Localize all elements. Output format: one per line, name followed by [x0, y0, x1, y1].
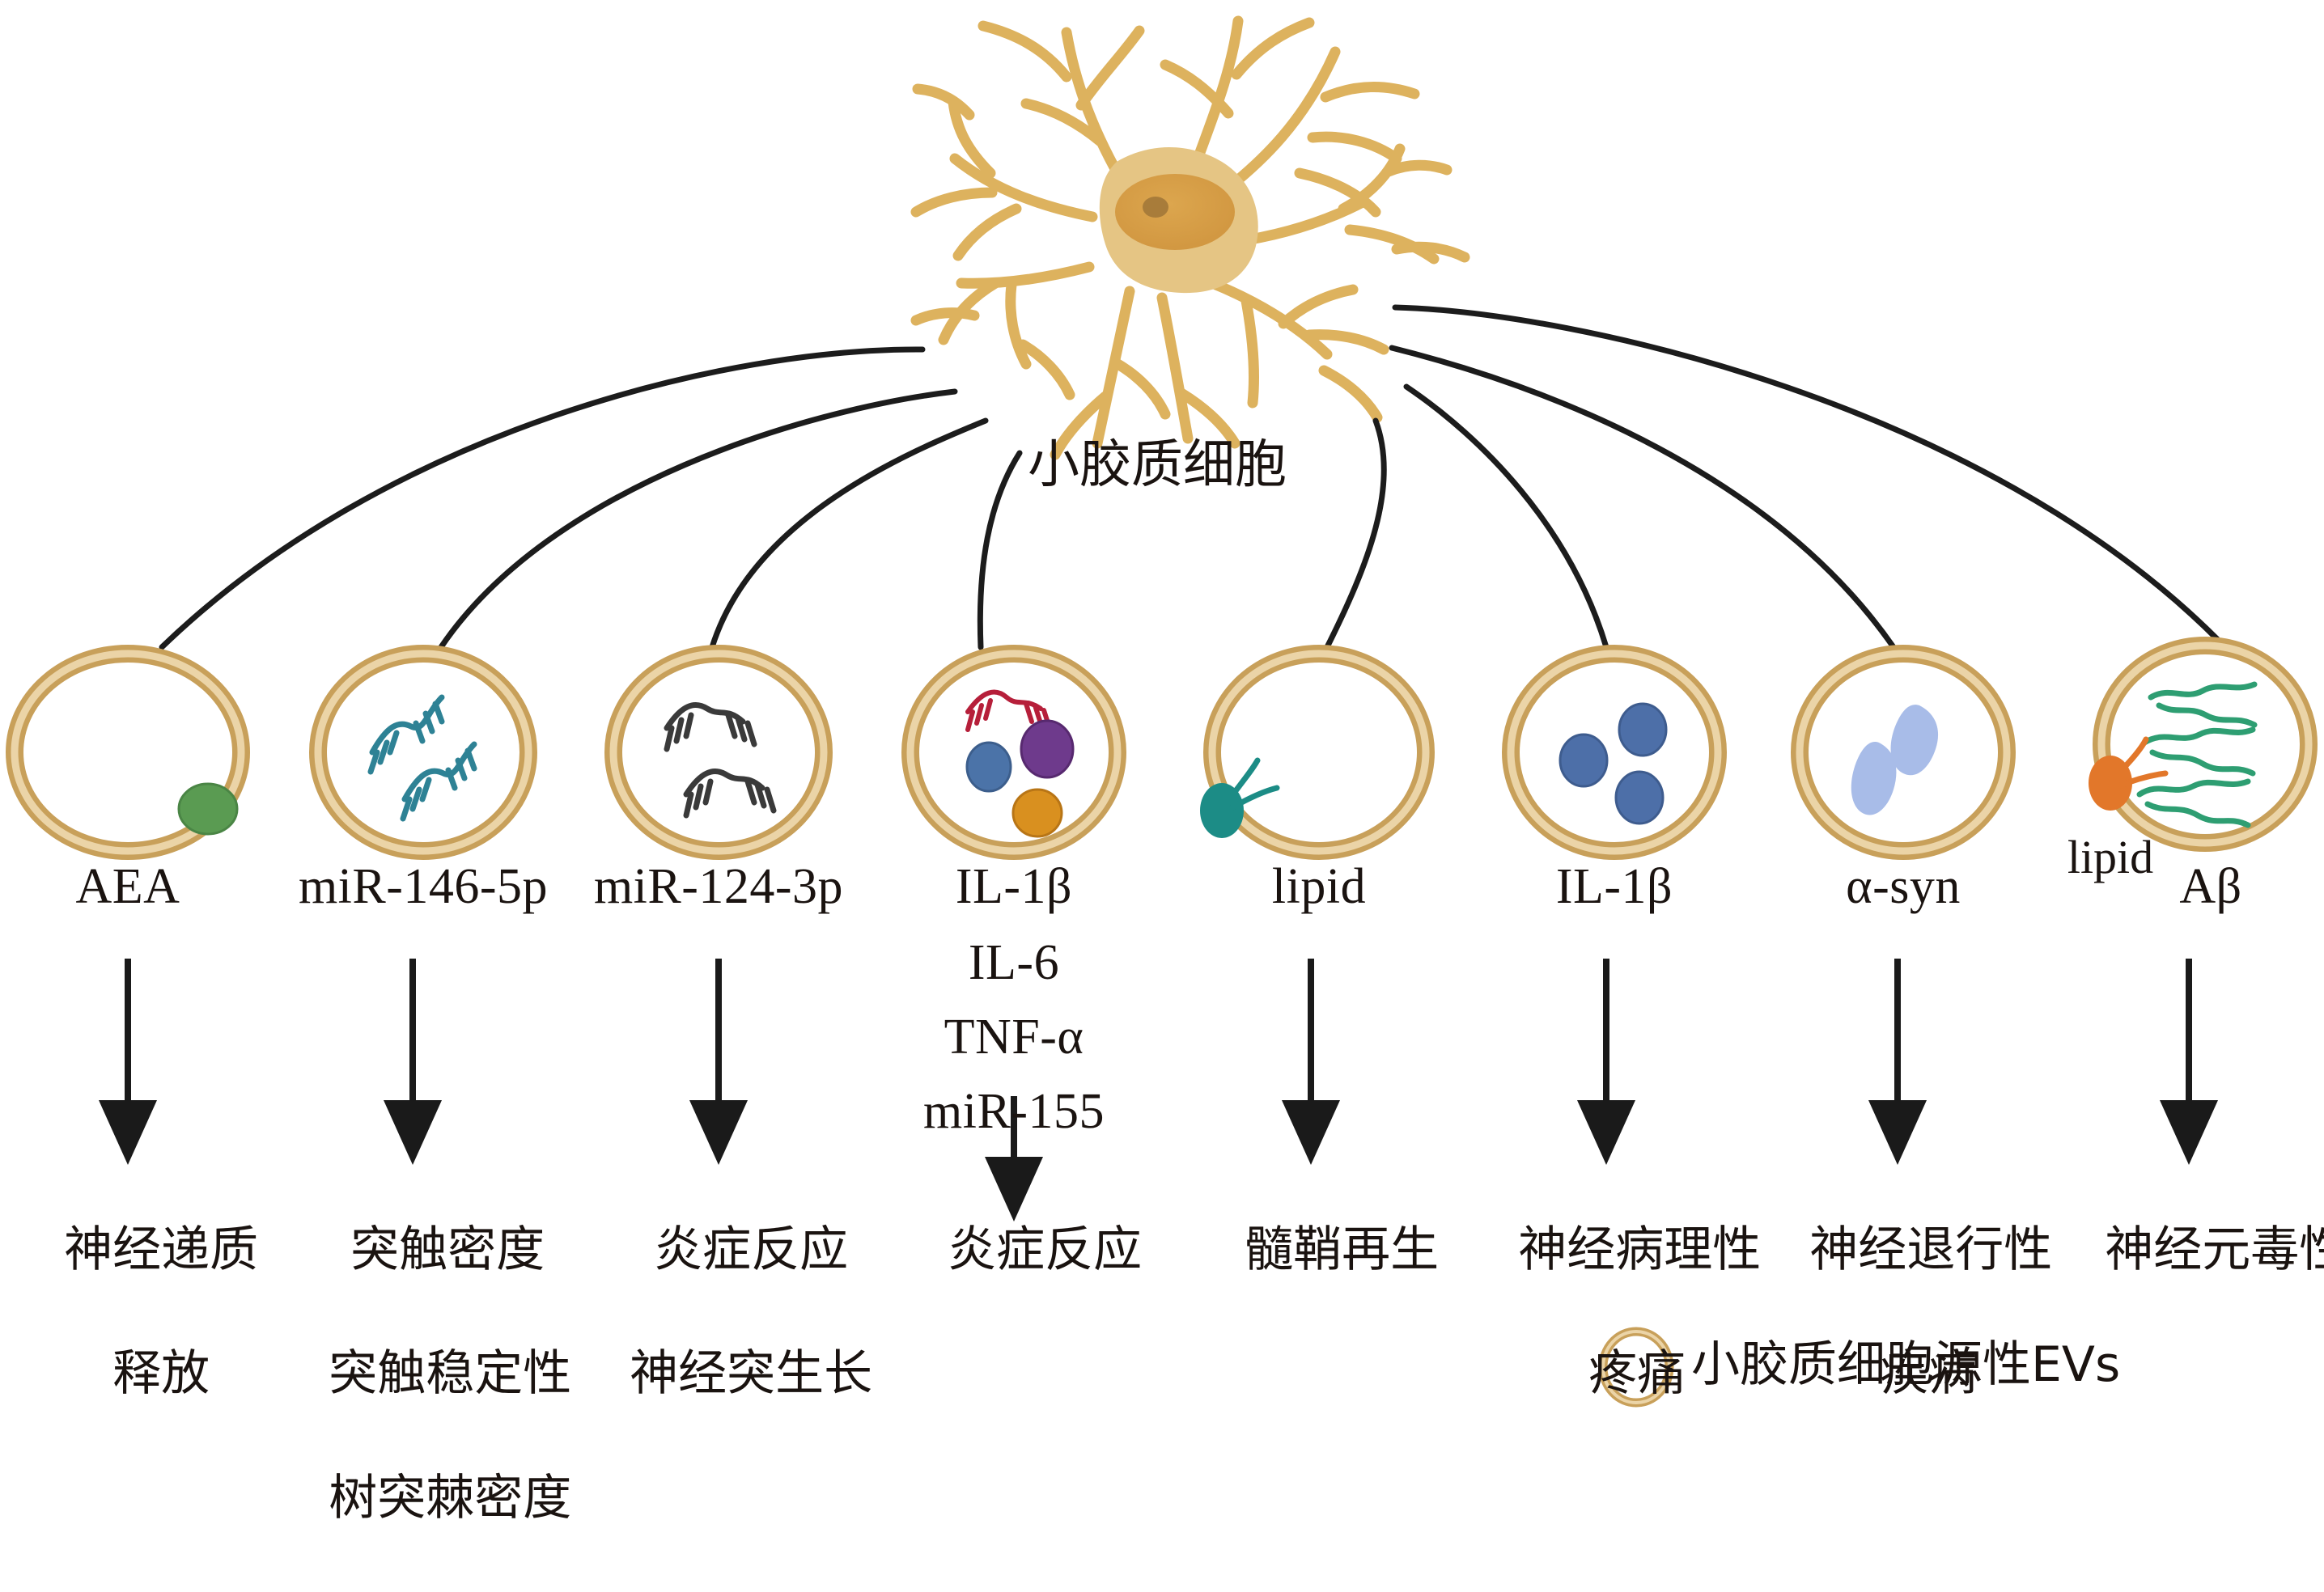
il1b-dot-1 [1560, 735, 1607, 786]
cytokine-purple-icon [1021, 721, 1073, 777]
outcome-aea: 神经递质 释放 [0, 1157, 272, 1467]
outcome-lipid-line1: 髓鞘再生 [1245, 1222, 1439, 1278]
outcome-abeta-line1: 神经元毒性 [2105, 1222, 2324, 1278]
outcome-arrows [128, 959, 2189, 1163]
cargo-label-mir146: miR-146-5p [253, 859, 593, 915]
vesicle-il1b [1511, 654, 1718, 851]
vesicle-cytokines [910, 654, 1117, 851]
outcome-cytokines-line1: 炎症反应 [948, 1222, 1142, 1278]
outcome-il1b-line2: 疼痛 [1588, 1345, 1686, 1402]
il1b-dot-2 [1619, 704, 1666, 756]
outcome-mir146: 突触密度 突触稳定性 树突棘密度 [267, 1157, 566, 1592]
outcome-mir124-line2: 神经突生长 [630, 1345, 872, 1402]
microglia-nucleus [1115, 174, 1235, 250]
asyn-fibril-icon [1851, 705, 1938, 815]
outcome-il1b: 神经病理性 疼痛 [1457, 1157, 1756, 1467]
legend-label: 小胶质细胞源性EVs [1691, 1338, 2306, 1392]
cargo-label-il1b: IL-1β [1501, 859, 1728, 915]
cargo-extra-tnfa: TNF-α [901, 1010, 1127, 1065]
microglia-cell [916, 21, 1465, 455]
outcome-il1b-line1: 神经病理性 [1518, 1222, 1761, 1278]
outcome-aea-line2: 释放 [112, 1345, 210, 1402]
outcome-aea-line1: 神经递质 [64, 1222, 258, 1278]
vesicle-lipid [1200, 654, 1426, 851]
vesicle-abeta [2089, 646, 2309, 843]
outcome-asyn: 神经退行性 疾病 [1748, 1157, 2047, 1467]
outcome-mir146-line2: 突触稳定性 [329, 1345, 571, 1402]
vesicle-asyn [1800, 654, 2007, 851]
connector-aea [162, 349, 922, 647]
cytokine-orange-icon [1013, 790, 1062, 836]
cargo-extra-mir155: miR-155 [884, 1084, 1143, 1140]
microglia-nucleolus [1143, 197, 1168, 218]
abeta-fibril-icon [2140, 684, 2254, 825]
mirna-strand-teal [371, 697, 474, 819]
cargo-label-abeta-text: Aβ [2097, 859, 2324, 915]
outcome-mir124-line1: 炎症反应 [654, 1222, 848, 1278]
vesicle-mir146 [318, 654, 528, 851]
outcome-asyn-line1: 神经退行性 [1809, 1222, 2052, 1278]
il1b-dot-3 [1616, 772, 1663, 824]
vesicle-mir124 [613, 654, 824, 851]
connector-asyn [1392, 348, 1894, 647]
source-cell-label: 小胶质细胞 [914, 437, 1400, 495]
cargo-extra-il6: IL-6 [901, 935, 1127, 991]
cargo-label-aea: AEA [15, 859, 241, 915]
connector-abeta [1395, 307, 2217, 639]
outcome-mir146-line3: 树突棘密度 [329, 1470, 571, 1526]
vesicle-aea [15, 654, 241, 851]
connector-il1b [1406, 387, 1606, 647]
aea-lipid-icon [179, 784, 237, 834]
cargo-label-mir124: miR-124-3p [549, 859, 888, 915]
figure-canvas: 小胶质细胞 AEA miR-146-5p miR-124-3p IL-1β li… [0, 0, 2324, 1427]
outcome-mir124: 炎症反应 神经突生长 [566, 1157, 874, 1467]
ev-vesicles [15, 646, 2309, 851]
cargo-label-il1b-group: IL-1β [901, 859, 1127, 915]
mirna-strand-black [667, 705, 774, 815]
cargo-label-lipid: lipid [1206, 859, 1432, 915]
outcome-abeta: 神经元毒性 [2043, 1157, 2324, 1343]
cytokine-blue-icon [967, 743, 1011, 791]
outcome-cytokines: 炎症反应 [884, 1157, 1143, 1343]
outcome-mir146-line1: 突触密度 [350, 1222, 545, 1278]
cargo-label-asyn: α-syn [1790, 859, 2017, 915]
outcome-lipid: 髓鞘再生 [1181, 1157, 1440, 1343]
